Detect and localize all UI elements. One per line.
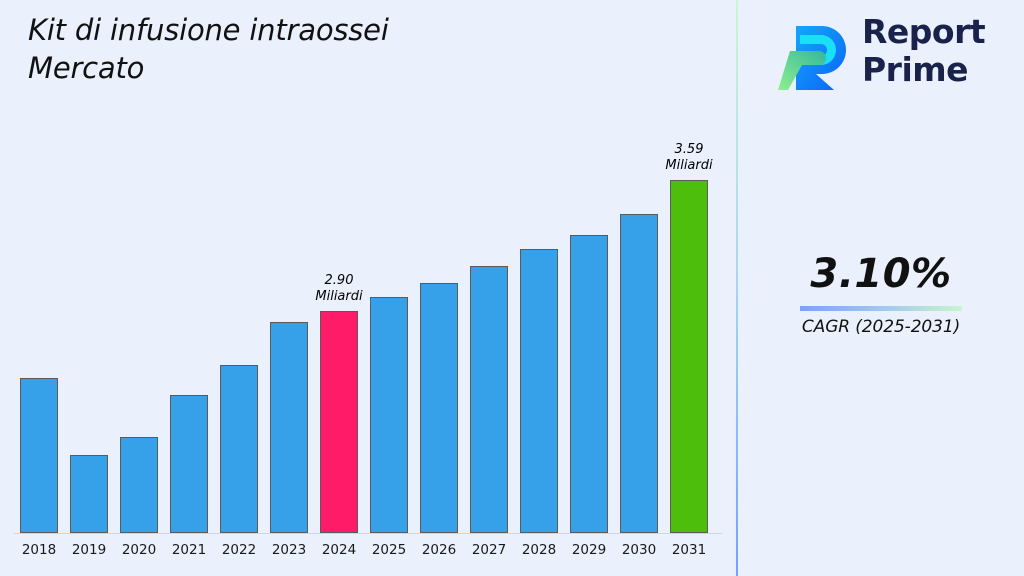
bar-2028[interactable] — [520, 249, 558, 533]
x-tick-2028: 2028 — [514, 542, 564, 558]
cagr-block: 3.10% CAGR (2025-2031) — [738, 250, 1024, 337]
x-tick-2022: 2022 — [214, 542, 264, 558]
brand-name: Report Prime — [862, 13, 985, 89]
bar-2021[interactable] — [170, 395, 208, 533]
x-tick-2031: 2031 — [664, 542, 714, 558]
bar-2022[interactable] — [220, 365, 258, 533]
bar-2019[interactable] — [70, 455, 108, 533]
bar-2026[interactable] — [420, 283, 458, 533]
x-tick-2024: 2024 — [314, 542, 364, 558]
slide-root: Kit di infusione intraossei Mercato 2018… — [0, 0, 1024, 576]
brand-name-line1: Report — [862, 13, 985, 51]
x-axis-line — [14, 533, 722, 534]
brand-logo[interactable]: Report Prime — [776, 12, 1000, 98]
brand-panel: Report Prime 3.10% CAGR (2025-2031) — [738, 0, 1024, 576]
bar-2029[interactable] — [570, 235, 608, 533]
cagr-value: 3.10% — [738, 250, 1024, 298]
bar-2018[interactable] — [20, 378, 58, 533]
bar-value-label-2031: 3.59Miliardi — [644, 142, 734, 174]
bar-value-2031: 3.59 — [644, 142, 734, 158]
bar-unit-2031: Miliardi — [644, 158, 734, 174]
cagr-divider-rule — [800, 306, 962, 311]
bar-value-2024: 2.90 — [294, 273, 384, 289]
x-tick-2020: 2020 — [114, 542, 164, 558]
x-tick-2025: 2025 — [364, 542, 414, 558]
x-tick-2026: 2026 — [414, 542, 464, 558]
bar-2023[interactable] — [270, 322, 308, 533]
x-tick-2029: 2029 — [564, 542, 614, 558]
cagr-caption: CAGR (2025-2031) — [738, 317, 1024, 337]
x-tick-2027: 2027 — [464, 542, 514, 558]
bar-2027[interactable] — [470, 266, 508, 533]
bar-chart: 2018201920202021202220232.90Miliardi2024… — [0, 0, 737, 576]
bar-2025[interactable] — [370, 297, 408, 533]
bar-2030[interactable] — [620, 214, 658, 533]
chart-panel: Kit di infusione intraossei Mercato 2018… — [0, 0, 737, 576]
bar-2020[interactable] — [120, 437, 158, 533]
x-tick-2021: 2021 — [164, 542, 214, 558]
bar-2031[interactable] — [670, 180, 708, 533]
x-tick-2018: 2018 — [14, 542, 64, 558]
report-prime-logo-icon — [776, 16, 854, 94]
x-tick-2019: 2019 — [64, 542, 114, 558]
bar-2024[interactable] — [320, 311, 358, 533]
x-tick-2023: 2023 — [264, 542, 314, 558]
x-tick-2030: 2030 — [614, 542, 664, 558]
brand-name-line2: Prime — [862, 51, 985, 89]
